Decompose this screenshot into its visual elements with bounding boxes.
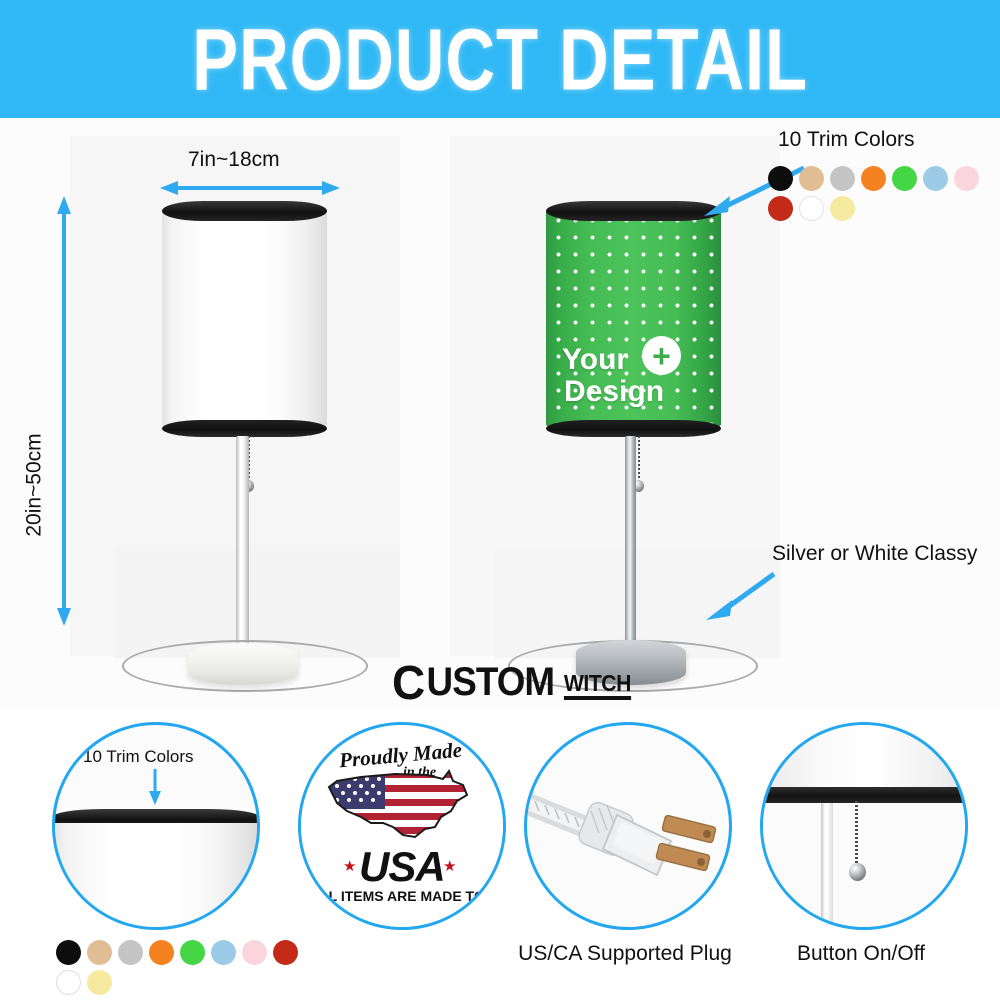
swatch-yellow[interactable]: [830, 196, 855, 221]
page-title: PRODUCT DETAIL: [192, 9, 808, 109]
height-dimension-arrow: [54, 196, 74, 626]
shade-trim-bottom: [546, 420, 721, 437]
shade-trim-bottom: [162, 420, 327, 437]
usa-badge: Proudly Made in the: [301, 725, 503, 927]
logo-sub-text: WITCH: [564, 671, 631, 700]
shade-closeup-trim: [760, 787, 968, 803]
feature-card-plug: [524, 722, 732, 930]
trim-colors-inner-arrow: [145, 769, 165, 805]
pull-chain-ball-closeup: [849, 863, 866, 881]
shade-trim-top: [162, 201, 327, 221]
base-finish-callout-arrow: [700, 566, 780, 624]
swatch-pink[interactable]: [242, 940, 267, 965]
swatch-dark-red[interactable]: [768, 196, 793, 221]
shade-closeup-body-upper: [760, 722, 968, 791]
feature-card-trim-colors: 10 Trim Colors: [52, 722, 260, 930]
main-product-panel: 7in~18cm 20in~50cm: [0, 118, 1000, 708]
swatch-white[interactable]: [799, 196, 824, 221]
feature-card-made-in-usa: Proudly Made in the: [298, 722, 506, 930]
star-right-icon: ★: [443, 857, 456, 875]
swatch-green[interactable]: [892, 166, 917, 191]
swatch-pink[interactable]: [954, 166, 979, 191]
usa-tagline: ALL ITEMS ARE MADE TO ORDER!: [310, 888, 506, 904]
star-left-icon: ★: [343, 857, 356, 875]
trim-colors-callout-label: 10 Trim Colors: [778, 128, 915, 152]
feature-card-button: [760, 722, 968, 930]
width-dimension-label: 7in~18cm: [188, 148, 280, 172]
plus-glyph: +: [652, 341, 671, 371]
lamp-white-shade: [162, 208, 327, 428]
swatch-white[interactable]: [56, 970, 81, 995]
swatch-tan[interactable]: [799, 166, 824, 191]
swatch-tan[interactable]: [87, 940, 112, 965]
logo-c-mark: C: [392, 663, 415, 701]
swatch-black[interactable]: [768, 166, 793, 191]
lamp-base-white: [188, 643, 298, 685]
lamp-green-shade: Your Design +: [546, 208, 721, 428]
lamp-pole-closeup: [821, 803, 833, 930]
shade-trim-top: [546, 201, 721, 221]
lamp-white: [110, 188, 400, 658]
swatch-gray[interactable]: [118, 940, 143, 965]
shade-surface: [162, 208, 327, 428]
swatch-orange[interactable]: [149, 940, 174, 965]
swatch-dark-red[interactable]: [273, 940, 298, 965]
swatch-orange[interactable]: [861, 166, 886, 191]
swatch-green[interactable]: [180, 940, 205, 965]
design-text-line2: Design: [564, 375, 664, 409]
add-design-plus-icon: +: [642, 336, 681, 375]
swatch-light-blue[interactable]: [211, 940, 236, 965]
brand-logo: C USTOM WITCH: [392, 664, 634, 700]
swatch-light-blue[interactable]: [923, 166, 948, 191]
product-detail-infographic: PRODUCT DETAIL 7in~18cm 20in~50cm: [0, 0, 1000, 1000]
logo-main-text: USTOM: [427, 664, 555, 700]
trim-colors-swatches-bottom: [56, 940, 326, 1000]
shade-closeup-body: [52, 823, 260, 930]
button-caption: Button On/Off: [746, 942, 976, 966]
usa-map-flag-icon: [317, 765, 489, 847]
swatch-gray[interactable]: [830, 166, 855, 191]
trim-colors-inner-label: 10 Trim Colors: [83, 747, 194, 767]
pull-chain-closeup: [855, 801, 858, 867]
base-finish-callout-label: Silver or White Classy: [772, 542, 977, 566]
usa-country-text: USA: [359, 843, 445, 891]
height-dimension-label: 20in~50cm: [23, 433, 47, 536]
plug-caption: US/CA Supported Plug: [500, 942, 750, 966]
trim-colors-swatches-top: [768, 166, 1000, 226]
design-text-line1: Your: [562, 343, 628, 377]
pull-chain: [638, 436, 640, 484]
power-plug-icon: [524, 755, 732, 905]
header-banner: PRODUCT DETAIL: [0, 0, 1000, 118]
swatch-black[interactable]: [56, 940, 81, 965]
swatch-yellow[interactable]: [87, 970, 112, 995]
